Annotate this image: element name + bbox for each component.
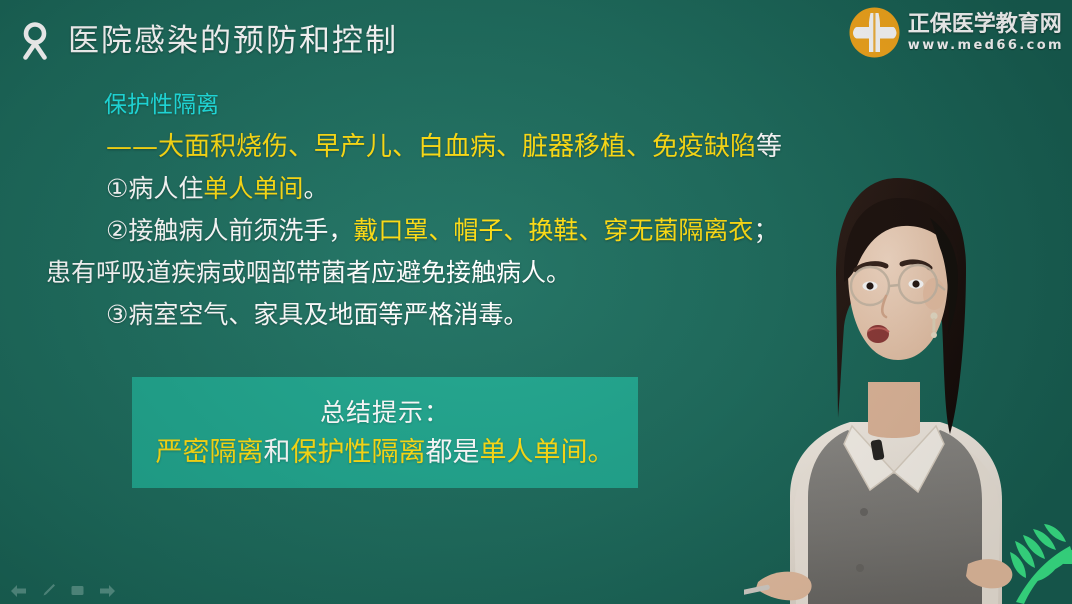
slide-line-item-1: ①病人住单人单间。	[0, 168, 860, 210]
segment-text: 保护性隔离	[291, 437, 426, 468]
next-slide-icon[interactable]	[99, 584, 116, 598]
person-icon	[18, 22, 52, 60]
page-title: 医院感染的预防和控制	[68, 26, 398, 57]
summary-callout: 总结提示： 严密隔离和保护性隔离都是单人单间。	[132, 377, 638, 488]
brand-logo: 正保医学教育网 www.med66.com	[848, 6, 1064, 59]
logo-url: www.med66.com	[908, 39, 1064, 52]
slide-line-definition: ——大面积烧伤、早产儿、白血病、脏器移植、免疫缺陷等	[0, 126, 860, 168]
segment-text: 等	[756, 132, 782, 162]
segment-text: 单人单间。	[480, 437, 615, 468]
segment-text: 严密隔离	[156, 437, 264, 468]
segment-text: ②接触病人前须洗手，	[106, 216, 353, 245]
slide-line-item-2: ②接触病人前须洗手，戴口罩、帽子、换鞋、穿无菌隔离衣；	[0, 210, 860, 252]
slide-subheading: 保护性隔离	[0, 84, 860, 126]
slide-title-row: 医院感染的预防和控制	[18, 22, 398, 60]
segment-text: 和	[264, 437, 291, 468]
segment-text: ①病人住	[106, 174, 203, 203]
eraser-tool-icon[interactable]	[70, 584, 85, 597]
segment-text: ；	[753, 216, 778, 245]
slide-stage: 医院感染的预防和控制 正保医学教育网 www.med66.com 保护性隔离 —…	[0, 0, 1072, 604]
slide-toolbar[interactable]	[10, 583, 116, 598]
cross-in-circle-icon	[848, 6, 901, 59]
slide-content: 保护性隔离 ——大面积烧伤、早产儿、白血病、脏器移植、免疫缺陷等 ①病人住单人单…	[0, 84, 860, 336]
logo-name-cn: 正保医学教育网	[908, 13, 1064, 36]
segment-text: 都是	[426, 437, 480, 468]
segment-text: ——大面积烧伤、早产儿、白血病、脏器移植、免疫缺陷	[106, 132, 756, 162]
summary-title: 总结提示：	[320, 394, 450, 432]
pen-tool-icon[interactable]	[41, 583, 56, 598]
slide-line-item-2-cont: 患有呼吸道疾病或咽部带菌者应避免接触病人。	[0, 252, 860, 294]
logo-wordmark: 正保医学教育网 www.med66.com	[908, 13, 1064, 51]
segment-text: 。	[303, 174, 328, 203]
segment-text: 单人单间	[203, 174, 303, 203]
segment-text: 戴口罩、帽子、换鞋、穿无菌隔离衣	[353, 216, 753, 245]
previous-slide-icon[interactable]	[10, 584, 27, 598]
summary-body: 严密隔离和保护性隔离都是单人单间。	[156, 434, 615, 472]
slide-line-item-3: ③病室空气、家具及地面等严格消毒。	[0, 294, 860, 336]
